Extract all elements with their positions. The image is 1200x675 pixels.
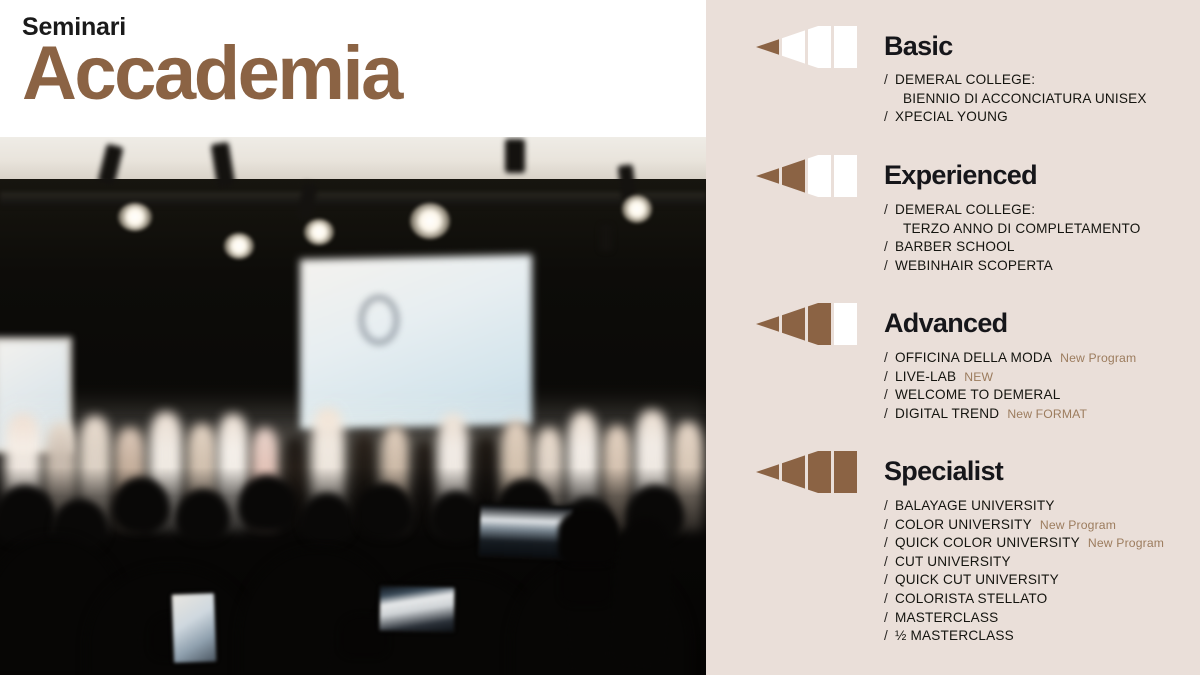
list-item[interactable]: / CUT UNIVERSITY xyxy=(884,553,1164,572)
list-item-label: COLORISTA STELLATO xyxy=(895,590,1047,609)
list-marker: / xyxy=(884,71,888,90)
list-item-continuation-label: BIENNIO DI ACCONCIATURA UNISEX xyxy=(884,90,1147,109)
list-item-label: QUICK CUT UNIVERSITY xyxy=(895,571,1059,590)
stage-light-glow xyxy=(410,203,450,239)
list-item[interactable]: / QUICK COLOR UNIVERSITY New Program xyxy=(884,534,1164,553)
list-item[interactable]: / LIVE-LAB NEW xyxy=(884,368,1136,387)
section-item-list: / DEMERAL COLLEGE: TERZO ANNO DI COMPLET… xyxy=(884,201,1141,275)
list-item[interactable]: / BARBER SCHOOL xyxy=(884,238,1141,257)
list-item-label: QUICK COLOR UNIVERSITY xyxy=(895,534,1080,553)
list-marker: / xyxy=(884,386,888,405)
hand-holding-phone xyxy=(558,509,618,565)
stage-light-glow xyxy=(224,233,254,259)
phone-screen-content xyxy=(172,593,216,662)
audience-head xyxy=(112,477,170,533)
list-item[interactable]: / WELCOME TO DEMERAL xyxy=(884,386,1136,405)
stage-light-glow xyxy=(622,195,652,223)
list-item[interactable]: / MASTERCLASS xyxy=(884,609,1164,628)
list-marker: / xyxy=(884,238,888,257)
list-item[interactable]: / COLOR UNIVERSITY New Program xyxy=(884,516,1164,535)
list-item-label: CUT UNIVERSITY xyxy=(895,553,1011,572)
list-item-continuation: TERZO ANNO DI COMPLETAMENTO xyxy=(884,220,1141,239)
audience-head xyxy=(300,493,354,545)
seminar-stage-photo xyxy=(0,137,706,675)
page-title: Accademia xyxy=(22,38,706,110)
list-marker: / xyxy=(884,534,888,553)
list-marker: / xyxy=(884,590,888,609)
list-item[interactable]: / QUICK CUT UNIVERSITY xyxy=(884,571,1164,590)
list-marker: / xyxy=(884,571,888,590)
status-badge: New Program xyxy=(1060,350,1136,367)
list-item[interactable]: / COLORISTA STELLATO xyxy=(884,590,1164,609)
stage-light-glow xyxy=(304,219,334,245)
section-heading: Advanced xyxy=(884,310,1007,337)
list-item[interactable]: / DEMERAL COLLEGE: xyxy=(884,71,1147,90)
audience-head xyxy=(356,483,414,539)
photo-lighting-truss xyxy=(0,192,706,206)
level-arrow-icon-1-of-4 xyxy=(756,26,860,68)
list-item-label: OFFICINA DELLA MODA xyxy=(895,349,1052,368)
list-marker: / xyxy=(884,368,888,387)
list-marker: / xyxy=(884,609,888,628)
section-heading: Basic xyxy=(884,33,953,60)
smartphone-screen xyxy=(170,591,218,665)
smartphone-screen xyxy=(378,584,457,633)
section-item-list: / OFFICINA DELLA MODA New Program / LIVE… xyxy=(884,349,1136,423)
list-item[interactable]: / WEBINHAIR SCOPERTA xyxy=(884,257,1141,276)
list-item-label: DEMERAL COLLEGE: xyxy=(895,71,1035,90)
section-heading: Specialist xyxy=(884,458,1003,485)
level-arrow-icon-4-of-4 xyxy=(756,451,860,493)
section-item-list: / DEMERAL COLLEGE: BIENNIO DI ACCONCIATU… xyxy=(884,71,1147,127)
audience-head xyxy=(238,475,296,531)
list-item-continuation: BIENNIO DI ACCONCIATURA UNISEX xyxy=(884,90,1147,109)
list-item-label: COLOR UNIVERSITY xyxy=(895,516,1032,535)
level-arrow-icon-3-of-4 xyxy=(756,303,860,345)
status-badge: NEW xyxy=(964,369,993,386)
list-item[interactable]: / ½ MASTERCLASS xyxy=(884,627,1164,646)
left-column: Seminari Accademia xyxy=(0,0,706,675)
list-item-label: WEBINHAIR SCOPERTA xyxy=(895,257,1053,276)
section-item-list: / BALAYAGE UNIVERSITY / COLOR UNIVERSITY… xyxy=(884,497,1164,646)
list-item[interactable]: / OFFICINA DELLA MODA New Program xyxy=(884,349,1136,368)
stage-lamp-housing xyxy=(600,225,612,251)
phone-screen-content xyxy=(380,586,455,631)
list-marker: / xyxy=(884,553,888,572)
list-item[interactable]: / DEMERAL COLLEGE: xyxy=(884,201,1141,220)
title-block: Seminari Accademia xyxy=(0,0,706,137)
list-marker: / xyxy=(884,257,888,276)
list-marker: / xyxy=(884,627,888,646)
status-badge: New Program xyxy=(1088,535,1164,552)
list-item-label: WELCOME TO DEMERAL xyxy=(895,386,1061,405)
program-levels-panel: Basic / DEMERAL COLLEGE: BIENNIO DI ACCO… xyxy=(706,0,1200,675)
list-marker: / xyxy=(884,516,888,535)
list-marker: / xyxy=(884,108,888,127)
audience-head xyxy=(176,489,230,541)
list-item-label: ½ MASTERCLASS xyxy=(895,627,1014,646)
stage-light-glow xyxy=(118,203,152,231)
list-item-continuation-label: TERZO ANNO DI COMPLETAMENTO xyxy=(884,220,1141,239)
list-marker: / xyxy=(884,405,888,424)
list-item[interactable]: / DIGITAL TREND New FORMAT xyxy=(884,405,1136,424)
list-item[interactable]: / BALAYAGE UNIVERSITY xyxy=(884,497,1164,516)
list-marker: / xyxy=(884,201,888,220)
list-item-label: LIVE-LAB xyxy=(895,368,956,387)
level-arrow-icon-2-of-4 xyxy=(756,155,860,197)
list-item-label: BARBER SCHOOL xyxy=(895,238,1015,257)
list-item-label: MASTERCLASS xyxy=(895,609,998,628)
audience-head xyxy=(430,491,482,541)
list-item-label: DEMERAL COLLEGE: xyxy=(895,201,1035,220)
list-marker: / xyxy=(884,349,888,368)
list-item-label: BALAYAGE UNIVERSITY xyxy=(895,497,1055,516)
list-item[interactable]: / XPECIAL YOUNG xyxy=(884,108,1147,127)
list-marker: / xyxy=(884,497,888,516)
list-item-label: XPECIAL YOUNG xyxy=(895,108,1008,127)
section-heading: Experienced xyxy=(884,162,1037,189)
list-item-label: DIGITAL TREND xyxy=(895,405,999,424)
status-badge: New Program xyxy=(1040,517,1116,534)
stage-lamp-housing xyxy=(505,139,525,173)
status-badge: New FORMAT xyxy=(1007,406,1087,423)
projection-screen-logo xyxy=(358,294,400,346)
